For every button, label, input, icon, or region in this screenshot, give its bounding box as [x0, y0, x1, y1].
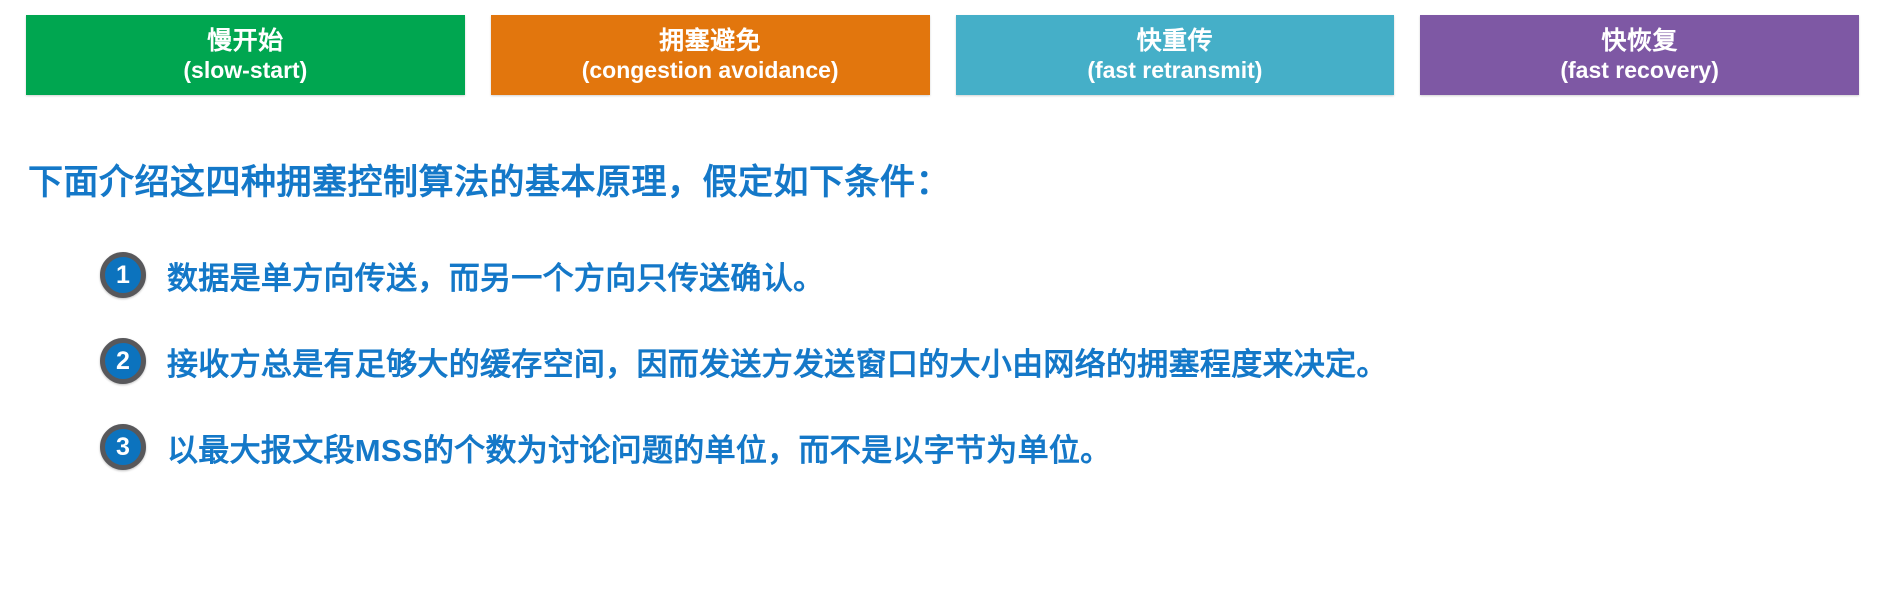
algorithm-box-title-cn: 慢开始 — [207, 28, 284, 55]
list-item: 3 以最大报文段MSS的个数为讨论问题的单位，而不是以字节为单位。 — [100, 404, 1860, 490]
algorithm-box-title-en: (slow-start) — [183, 58, 307, 83]
algorithm-box-title-en: (fast retransmit) — [1087, 58, 1262, 83]
number-badge-2: 2 — [100, 338, 146, 384]
algorithm-box-title-en: (fast recovery) — [1560, 58, 1719, 83]
algorithm-box-title-cn: 快恢复 — [1601, 28, 1678, 55]
algorithm-box-fast-recovery[interactable]: 快恢复 (fast recovery) — [1420, 15, 1859, 95]
list-item: 1 数据是单方向传送，而另一个方向只传送确认。 — [100, 232, 1860, 318]
algorithm-box-slow-start[interactable]: 慢开始 (slow-start) — [26, 15, 465, 95]
list-item-label: 数据是单方向传送，而另一个方向只传送确认。 — [167, 253, 824, 298]
algorithm-box-fast-retransmit[interactable]: 快重传 (fast retransmit) — [956, 15, 1395, 95]
list-item: 2 接收方总是有足够大的缓存空间，因而发送方发送窗口的大小由网络的拥塞程度来决定… — [100, 318, 1860, 404]
list-item-label: 接收方总是有足够大的缓存空间，因而发送方发送窗口的大小由网络的拥塞程度来决定。 — [167, 339, 1388, 384]
algorithm-box-congestion-avoidance[interactable]: 拥塞避免 (congestion avoidance) — [491, 15, 930, 95]
number-badge-1: 1 — [100, 252, 146, 298]
algorithm-box-title-cn: 快重传 — [1137, 28, 1214, 55]
algorithm-box-title-cn: 拥塞避免 — [659, 28, 761, 55]
number-badge-3: 3 — [100, 424, 146, 470]
algorithm-box-title-en: (congestion avoidance) — [582, 58, 839, 83]
page-title: 下面介绍这四种拥塞控制算法的基本原理，假定如下条件： — [28, 154, 951, 205]
assumptions-list: 1 数据是单方向传送，而另一个方向只传送确认。 2 接收方总是有足够大的缓存空间… — [100, 232, 1860, 490]
list-item-label: 以最大报文段MSS的个数为讨论问题的单位，而不是以字节为单位。 — [167, 425, 1111, 470]
algorithm-box-row: 慢开始 (slow-start) 拥塞避免 (congestion avoida… — [26, 15, 1859, 95]
